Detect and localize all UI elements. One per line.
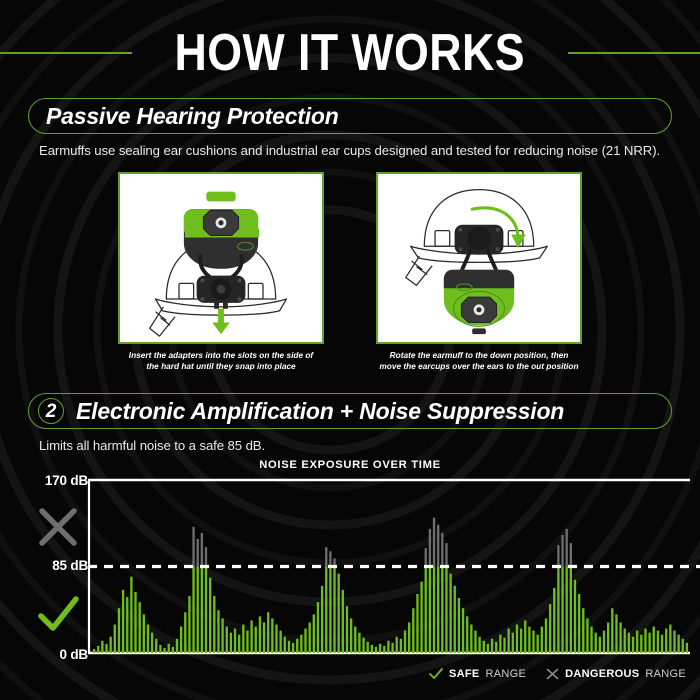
- chart-bar-safe: [682, 639, 684, 653]
- legend-x-icon: [546, 668, 559, 680]
- chart-bar-safe: [458, 598, 460, 653]
- chart-bar-safe: [400, 639, 402, 653]
- y-axis-label-85: 85 dB: [10, 559, 88, 573]
- chart-bar-safe: [578, 594, 580, 653]
- chart-bar-safe: [288, 641, 290, 653]
- chart-bar-safe: [246, 631, 248, 653]
- chart-bar-safe: [487, 644, 489, 653]
- chart-bar-safe: [238, 635, 240, 653]
- legend-dangerous-label: DANGEROUS: [565, 668, 639, 680]
- chart-bar-safe: [205, 567, 207, 654]
- chart-bar-safe: [408, 622, 410, 653]
- section-header-passive-hearing-protection: Passive Hearing Protection: [28, 98, 672, 134]
- chart-bar-safe: [101, 641, 103, 653]
- chart-bar-safe: [474, 631, 476, 653]
- chart-bar-safe: [528, 627, 530, 653]
- chart-bar-safe: [615, 614, 617, 653]
- chart-bar-safe: [503, 638, 505, 653]
- chart-bar-dangerous: [445, 543, 447, 566]
- chart-bar-safe: [520, 629, 522, 653]
- chart-bar-safe: [354, 627, 356, 653]
- chart-bar-dangerous: [433, 518, 435, 567]
- chart-bar-dangerous: [325, 547, 327, 566]
- chart-bar-safe: [607, 622, 609, 653]
- chart-bar-safe: [221, 618, 223, 653]
- chart-bar-safe: [665, 629, 667, 653]
- chart-bar-safe: [105, 644, 107, 653]
- chart-bar-safe: [255, 627, 257, 653]
- chart-bar-safe: [590, 627, 592, 653]
- chart-bar-safe: [632, 637, 634, 653]
- chart-bar-safe: [217, 610, 219, 653]
- chart-bar-dangerous: [561, 535, 563, 567]
- chart-bar-dangerous: [557, 545, 559, 566]
- chart-bar-safe: [159, 645, 161, 653]
- chart-bar-safe: [553, 588, 555, 653]
- chart-bar-safe: [263, 622, 265, 653]
- chart-bar-safe: [524, 620, 526, 653]
- chart-bar-safe: [545, 618, 547, 653]
- chart-bar-safe: [147, 625, 149, 653]
- chart-bar-safe: [213, 596, 215, 653]
- chart-bar-safe: [300, 635, 302, 653]
- caption-line-2: move the earcups over the ears to the ou…: [379, 361, 578, 371]
- chart-bar-safe: [611, 608, 613, 653]
- chart-bar-dangerous: [205, 547, 207, 566]
- chart-bar-dangerous: [429, 529, 431, 567]
- illustration-panel-rotate-earmuff: [376, 172, 582, 344]
- chart-title: NOISE EXPOSURE OVER TIME: [0, 459, 700, 471]
- chart-bar-safe: [416, 594, 418, 653]
- chart-bar-safe: [657, 631, 659, 653]
- chart-bar-safe: [192, 567, 194, 654]
- chart-bar-safe: [653, 627, 655, 653]
- chart-bar-safe: [267, 612, 269, 653]
- chart-bar-safe: [636, 631, 638, 653]
- insert-adapters-illustration: [120, 174, 322, 342]
- chart-bar-safe: [197, 567, 199, 654]
- chart-bar-safe: [358, 633, 360, 653]
- chart-bar-safe: [151, 633, 153, 653]
- chart-bar-safe: [313, 614, 315, 653]
- chart-bar-safe: [317, 602, 319, 653]
- chart-bar-safe: [437, 567, 439, 654]
- chart-bar-safe: [97, 646, 99, 653]
- chart-bar-safe: [242, 625, 244, 653]
- y-axis-label-170: 170 dB: [10, 474, 88, 488]
- section-1-title: Passive Hearing Protection: [46, 105, 339, 128]
- chart-bar-safe: [404, 631, 406, 653]
- chart-bar-safe: [512, 633, 514, 653]
- illustration-panel-insert-adapters: [118, 172, 324, 344]
- chart-bar-safe: [433, 567, 435, 654]
- section-header-electronic-amplification: 2 Electronic Amplification + Noise Suppr…: [28, 393, 672, 429]
- page-title: HOW IT WORKS: [163, 27, 538, 79]
- chart-bar-safe: [454, 586, 456, 653]
- chart-bar-safe: [118, 608, 120, 653]
- chart-bar-safe: [566, 567, 568, 654]
- caption-line-1: Insert the adapters into the slots on th…: [129, 350, 313, 360]
- chart-bar-safe: [338, 574, 340, 653]
- chart-bar-safe: [532, 631, 534, 653]
- chart-bar-dangerous: [197, 539, 199, 566]
- chart-bar-safe: [130, 577, 132, 653]
- legend-safe-suffix: RANGE: [486, 668, 527, 680]
- chart-bar-safe: [429, 567, 431, 654]
- chart-bar-safe: [586, 618, 588, 653]
- page-header: HOW IT WORKS: [0, 22, 700, 84]
- chart-bar-safe: [134, 592, 136, 653]
- chart-bar-safe: [371, 645, 373, 653]
- chart-bar-safe: [644, 629, 646, 653]
- chart-bar-safe: [561, 567, 563, 654]
- chart-bar-safe: [143, 614, 145, 653]
- chart-bar-safe: [483, 641, 485, 653]
- chart-bar-safe: [470, 625, 472, 653]
- chart-bar-safe: [491, 639, 493, 653]
- chart-bar-safe: [284, 637, 286, 653]
- dangerous-range-x-icon: [36, 505, 80, 549]
- chart-bar-safe: [180, 627, 182, 653]
- chart-bar-safe: [176, 639, 178, 653]
- safe-range-check-icon: [36, 592, 80, 636]
- chart-bar-dangerous: [192, 527, 194, 567]
- chart-bar-safe: [329, 567, 331, 654]
- chart-bar-safe: [275, 625, 277, 653]
- section-2-title: Electronic Amplification + Noise Suppres…: [76, 400, 564, 423]
- chart-bar-safe: [209, 578, 211, 653]
- chart-bar-safe: [619, 622, 621, 653]
- panel-caption-rotate-earmuff: Rotate the earmuff to the down position,…: [354, 350, 604, 372]
- chart-bar-safe: [342, 590, 344, 653]
- chart-bar-safe: [396, 637, 398, 653]
- chart-bar-safe: [367, 642, 369, 653]
- chart-bar-safe: [441, 567, 443, 654]
- chart-bar-safe: [624, 629, 626, 653]
- chart-bar-safe: [279, 631, 281, 653]
- chart-bar-safe: [93, 649, 95, 653]
- chart-bar-safe: [122, 590, 124, 653]
- chart-bar-safe: [379, 644, 381, 653]
- chart-bar-safe: [570, 567, 572, 654]
- y-axis-label-0: 0 dB: [10, 648, 88, 662]
- chart-bar-safe: [462, 608, 464, 653]
- chart-bar-safe: [499, 635, 501, 653]
- chart-bar-safe: [362, 638, 364, 653]
- chart-bar-safe: [110, 637, 112, 653]
- chart-bar-safe: [271, 618, 273, 653]
- chart-bar-safe: [478, 637, 480, 653]
- chart-bar-safe: [309, 622, 311, 653]
- chart-bar-dangerous: [437, 525, 439, 567]
- chart-bar-safe: [599, 637, 601, 653]
- chart-bar-safe: [375, 647, 377, 653]
- noise-exposure-chart: [0, 472, 700, 664]
- chart-bar-safe: [346, 606, 348, 653]
- chart-bar-safe: [114, 625, 116, 653]
- chart-bar-safe: [333, 567, 335, 654]
- chart-bar-safe: [163, 648, 165, 653]
- chart-bar-safe: [304, 629, 306, 653]
- chart-bar-safe: [628, 633, 630, 653]
- chart-bar-safe: [557, 567, 559, 654]
- chart-bar-safe: [259, 616, 261, 653]
- chart-bar-safe: [201, 567, 203, 654]
- chart-bar-safe: [537, 635, 539, 653]
- chart-bar-safe: [139, 602, 141, 653]
- chart-bar-safe: [383, 646, 385, 653]
- panel-caption-insert-adapters: Insert the adapters into the slots on th…: [96, 350, 346, 372]
- caption-line-1: Rotate the earmuff to the down position,…: [390, 350, 569, 360]
- chart-bar-safe: [420, 582, 422, 653]
- chart-bar-safe: [425, 567, 427, 654]
- section-2-subtitle: Limits all harmful noise to a safe 85 dB…: [39, 438, 679, 453]
- chart-bar-safe: [677, 635, 679, 653]
- chart-bar-safe: [250, 620, 252, 653]
- chart-bar-dangerous: [566, 529, 568, 567]
- chart-bar-safe: [516, 625, 518, 653]
- chart-bar-safe: [574, 580, 576, 653]
- chart-bar-safe: [466, 616, 468, 653]
- chart-bar-dangerous: [329, 551, 331, 566]
- chart-bar-safe: [412, 608, 414, 653]
- chart-bar-safe: [126, 597, 128, 653]
- chart-bar-safe: [234, 629, 236, 653]
- chart-bar-safe: [508, 629, 510, 653]
- chart-bar-safe: [686, 643, 688, 653]
- chart-bar-safe: [648, 633, 650, 653]
- chart-bar-dangerous: [201, 533, 203, 567]
- chart-bar-safe: [449, 574, 451, 653]
- chart-bar-safe: [188, 596, 190, 653]
- chart-bar-dangerous: [570, 543, 572, 566]
- chart-bar-safe: [325, 567, 327, 654]
- legend-check-icon: [429, 668, 443, 680]
- chart-bar-safe: [669, 625, 671, 653]
- chart-bar-safe: [321, 586, 323, 653]
- chart-bar-safe: [391, 643, 393, 653]
- chart-bar-safe: [445, 567, 447, 654]
- chart-bar-safe: [172, 647, 174, 653]
- chart-bar-safe: [541, 627, 543, 653]
- chart-bar-dangerous: [441, 533, 443, 567]
- legend-safe-label: SAFE: [449, 668, 480, 680]
- chart-bar-safe: [549, 604, 551, 653]
- chart-bar-safe: [226, 627, 228, 653]
- rotate-earmuff-illustration: [378, 174, 580, 342]
- header-rule-right: [568, 52, 700, 54]
- caption-line-2: the hard hat until they snap into place: [146, 361, 295, 371]
- chart-bar-dangerous: [425, 548, 427, 566]
- chart-bar-safe: [387, 641, 389, 653]
- chart-bar-safe: [495, 642, 497, 653]
- chart-bar-safe: [582, 608, 584, 653]
- chart-bar-safe: [292, 643, 294, 653]
- chart-bar-safe: [184, 612, 186, 653]
- legend-item-safe: SAFE RANGE: [429, 668, 526, 680]
- chart-bar-safe: [661, 635, 663, 653]
- chart-bar-safe: [230, 633, 232, 653]
- chart-bar-safe: [640, 635, 642, 653]
- chart-bar-safe: [296, 639, 298, 653]
- chart-bar-safe: [168, 644, 170, 653]
- legend-item-dangerous: DANGEROUS RANGE: [546, 668, 686, 680]
- section-1-subtitle: Earmuffs use sealing ear cushions and in…: [39, 143, 679, 158]
- chart-bar-safe: [595, 633, 597, 653]
- chart-bar-safe: [350, 618, 352, 653]
- chart-bar-safe: [603, 631, 605, 653]
- down-arrow-icon: [212, 309, 230, 334]
- chart-bar-safe: [673, 631, 675, 653]
- chart-bars: [93, 518, 688, 653]
- chart-legend: SAFE RANGE DANGEROUS RANGE: [429, 668, 686, 680]
- infographic-page: HOW IT WORKS Passive Hearing Protection …: [0, 0, 700, 700]
- chart-bar-safe: [155, 639, 157, 653]
- legend-dangerous-suffix: RANGE: [645, 668, 686, 680]
